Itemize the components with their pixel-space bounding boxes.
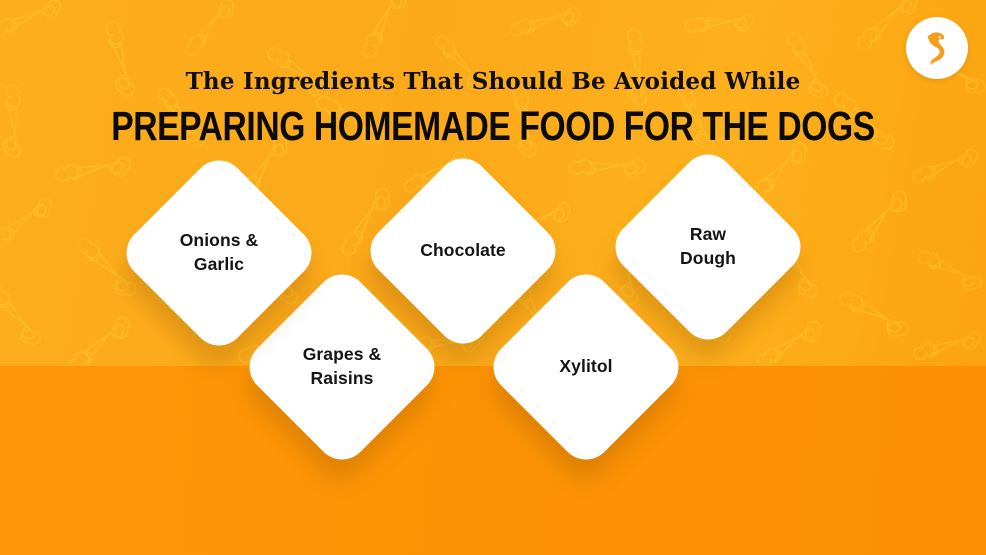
title-block: The Ingredients That Should Be Avoided W…	[0, 0, 986, 147]
dog-logo-icon	[918, 28, 956, 68]
infographic-canvas: The Ingredients That Should Be Avoided W…	[0, 0, 986, 555]
bone-icon	[0, 187, 56, 261]
bone-icon	[834, 291, 913, 339]
card-label: Onions & Garlic	[146, 180, 292, 326]
background-band-bottom	[0, 366, 986, 555]
bone-icon	[0, 284, 51, 350]
bone-icon	[53, 141, 133, 200]
dog-logo[interactable]	[906, 17, 968, 79]
bone-icon	[914, 250, 985, 292]
bone-icon	[850, 182, 911, 262]
subtitle: The Ingredients That Should Be Avoided W…	[0, 0, 986, 93]
page-title: PREPARING HOMEMADE FOOD FOR THE DOGS	[89, 93, 898, 147]
bone-icon	[67, 307, 134, 366]
card-onions-garlic[interactable]: Onions & Garlic	[116, 150, 322, 356]
bone-icon	[912, 318, 984, 366]
